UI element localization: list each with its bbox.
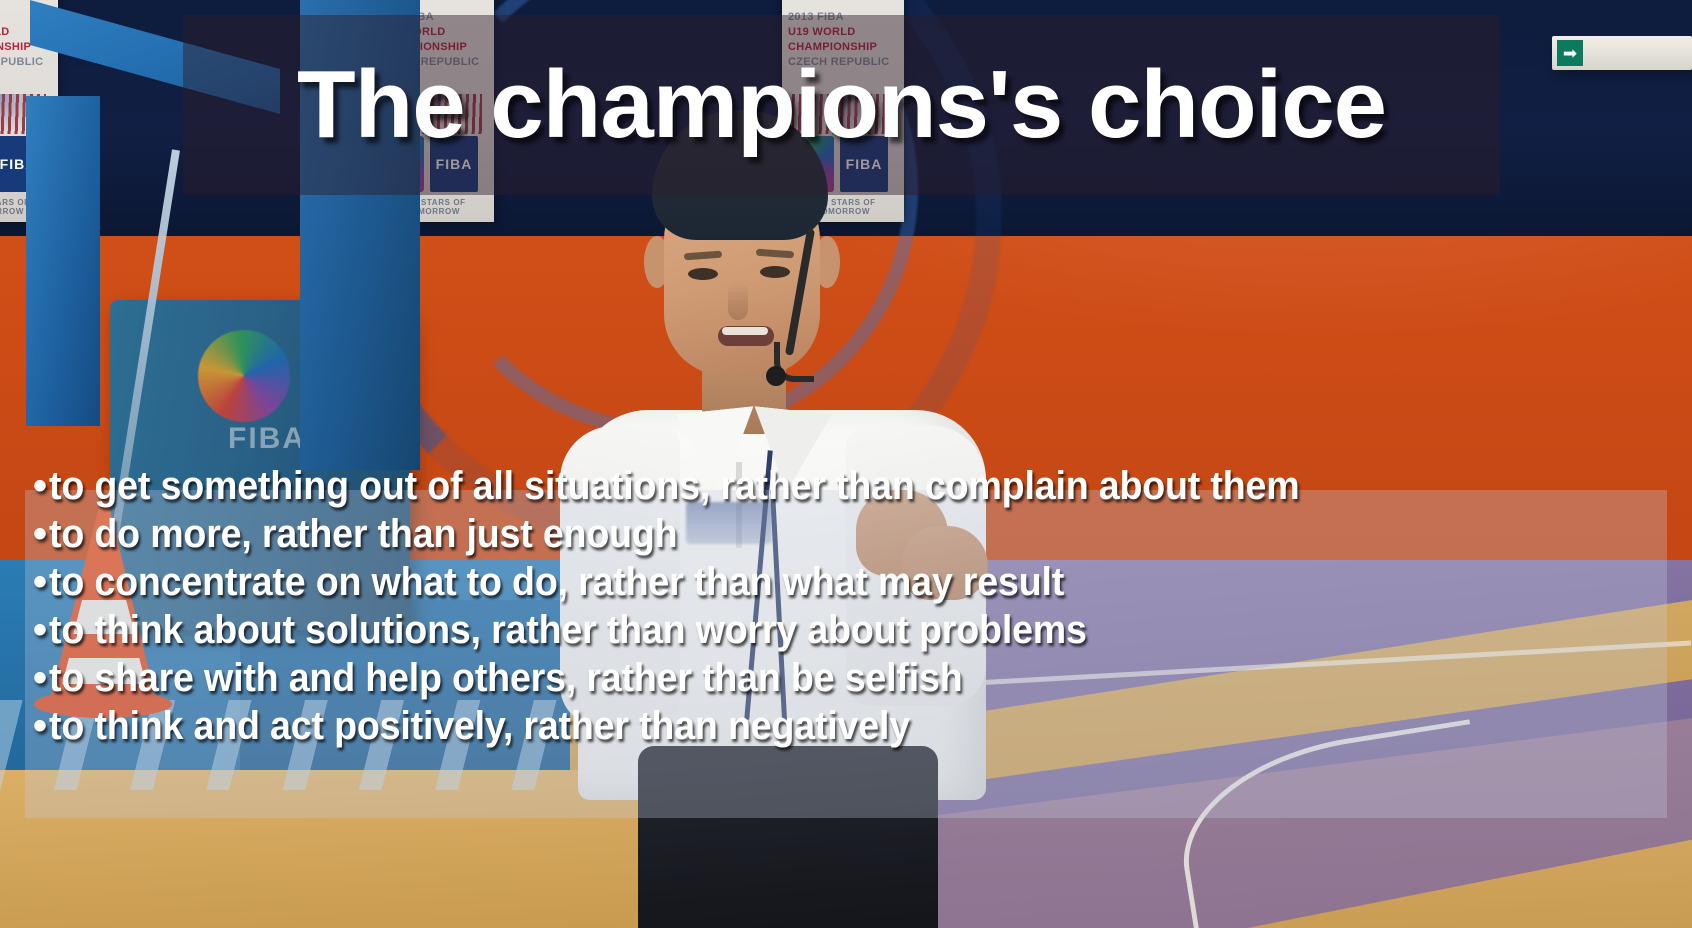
basketball-graphic-icon — [198, 330, 290, 422]
bullet-text: to share with and help others, rather th… — [49, 654, 963, 702]
presenter-teeth — [722, 327, 768, 335]
bullet-text: to get something out of all situations, … — [49, 462, 1299, 510]
list-item: • to think and act positively, rather th… — [33, 702, 1683, 750]
list-item: • to think about solutions, rather than … — [33, 606, 1683, 654]
hoop-post — [26, 96, 100, 426]
list-item: • to do more, rather than just enough — [33, 510, 1683, 558]
bullet-marker-icon: • — [33, 702, 47, 750]
bullet-marker-icon: • — [33, 606, 47, 654]
slide-canvas: 2013 FIBA U19 WORLD CHAMPIONSHIP CZECH R… — [0, 0, 1692, 928]
bullet-text: to think about solutions, rather than wo… — [49, 606, 1087, 654]
hoop-pad-fiba-text: FIBA — [228, 422, 306, 456]
bullet-marker-icon: • — [33, 654, 47, 702]
presenter-eye-right — [760, 266, 790, 278]
bullet-text: to do more, rather than just enough — [49, 510, 677, 558]
bullet-text: to concentrate on what to do, rather tha… — [49, 558, 1064, 606]
list-item: • to concentrate on what to do, rather t… — [33, 558, 1683, 606]
bullet-list: • to get something out of all situations… — [33, 462, 1683, 750]
exit-sign: ➡ — [1552, 36, 1692, 70]
bullet-marker-icon: • — [33, 462, 47, 510]
bullet-marker-icon: • — [33, 510, 47, 558]
list-item: • to share with and help others, rather … — [33, 654, 1683, 702]
exit-arrow-icon: ➡ — [1557, 40, 1583, 66]
list-item: • to get something out of all situations… — [33, 462, 1683, 510]
headset-mic-capsule-icon — [766, 366, 786, 386]
bullet-text: to think and act positively, rather than… — [49, 702, 910, 750]
bullet-marker-icon: • — [33, 558, 47, 606]
slide-title: The champions's choice — [183, 15, 1500, 195]
presenter-nose — [728, 282, 748, 320]
presenter-eye-left — [688, 268, 718, 280]
